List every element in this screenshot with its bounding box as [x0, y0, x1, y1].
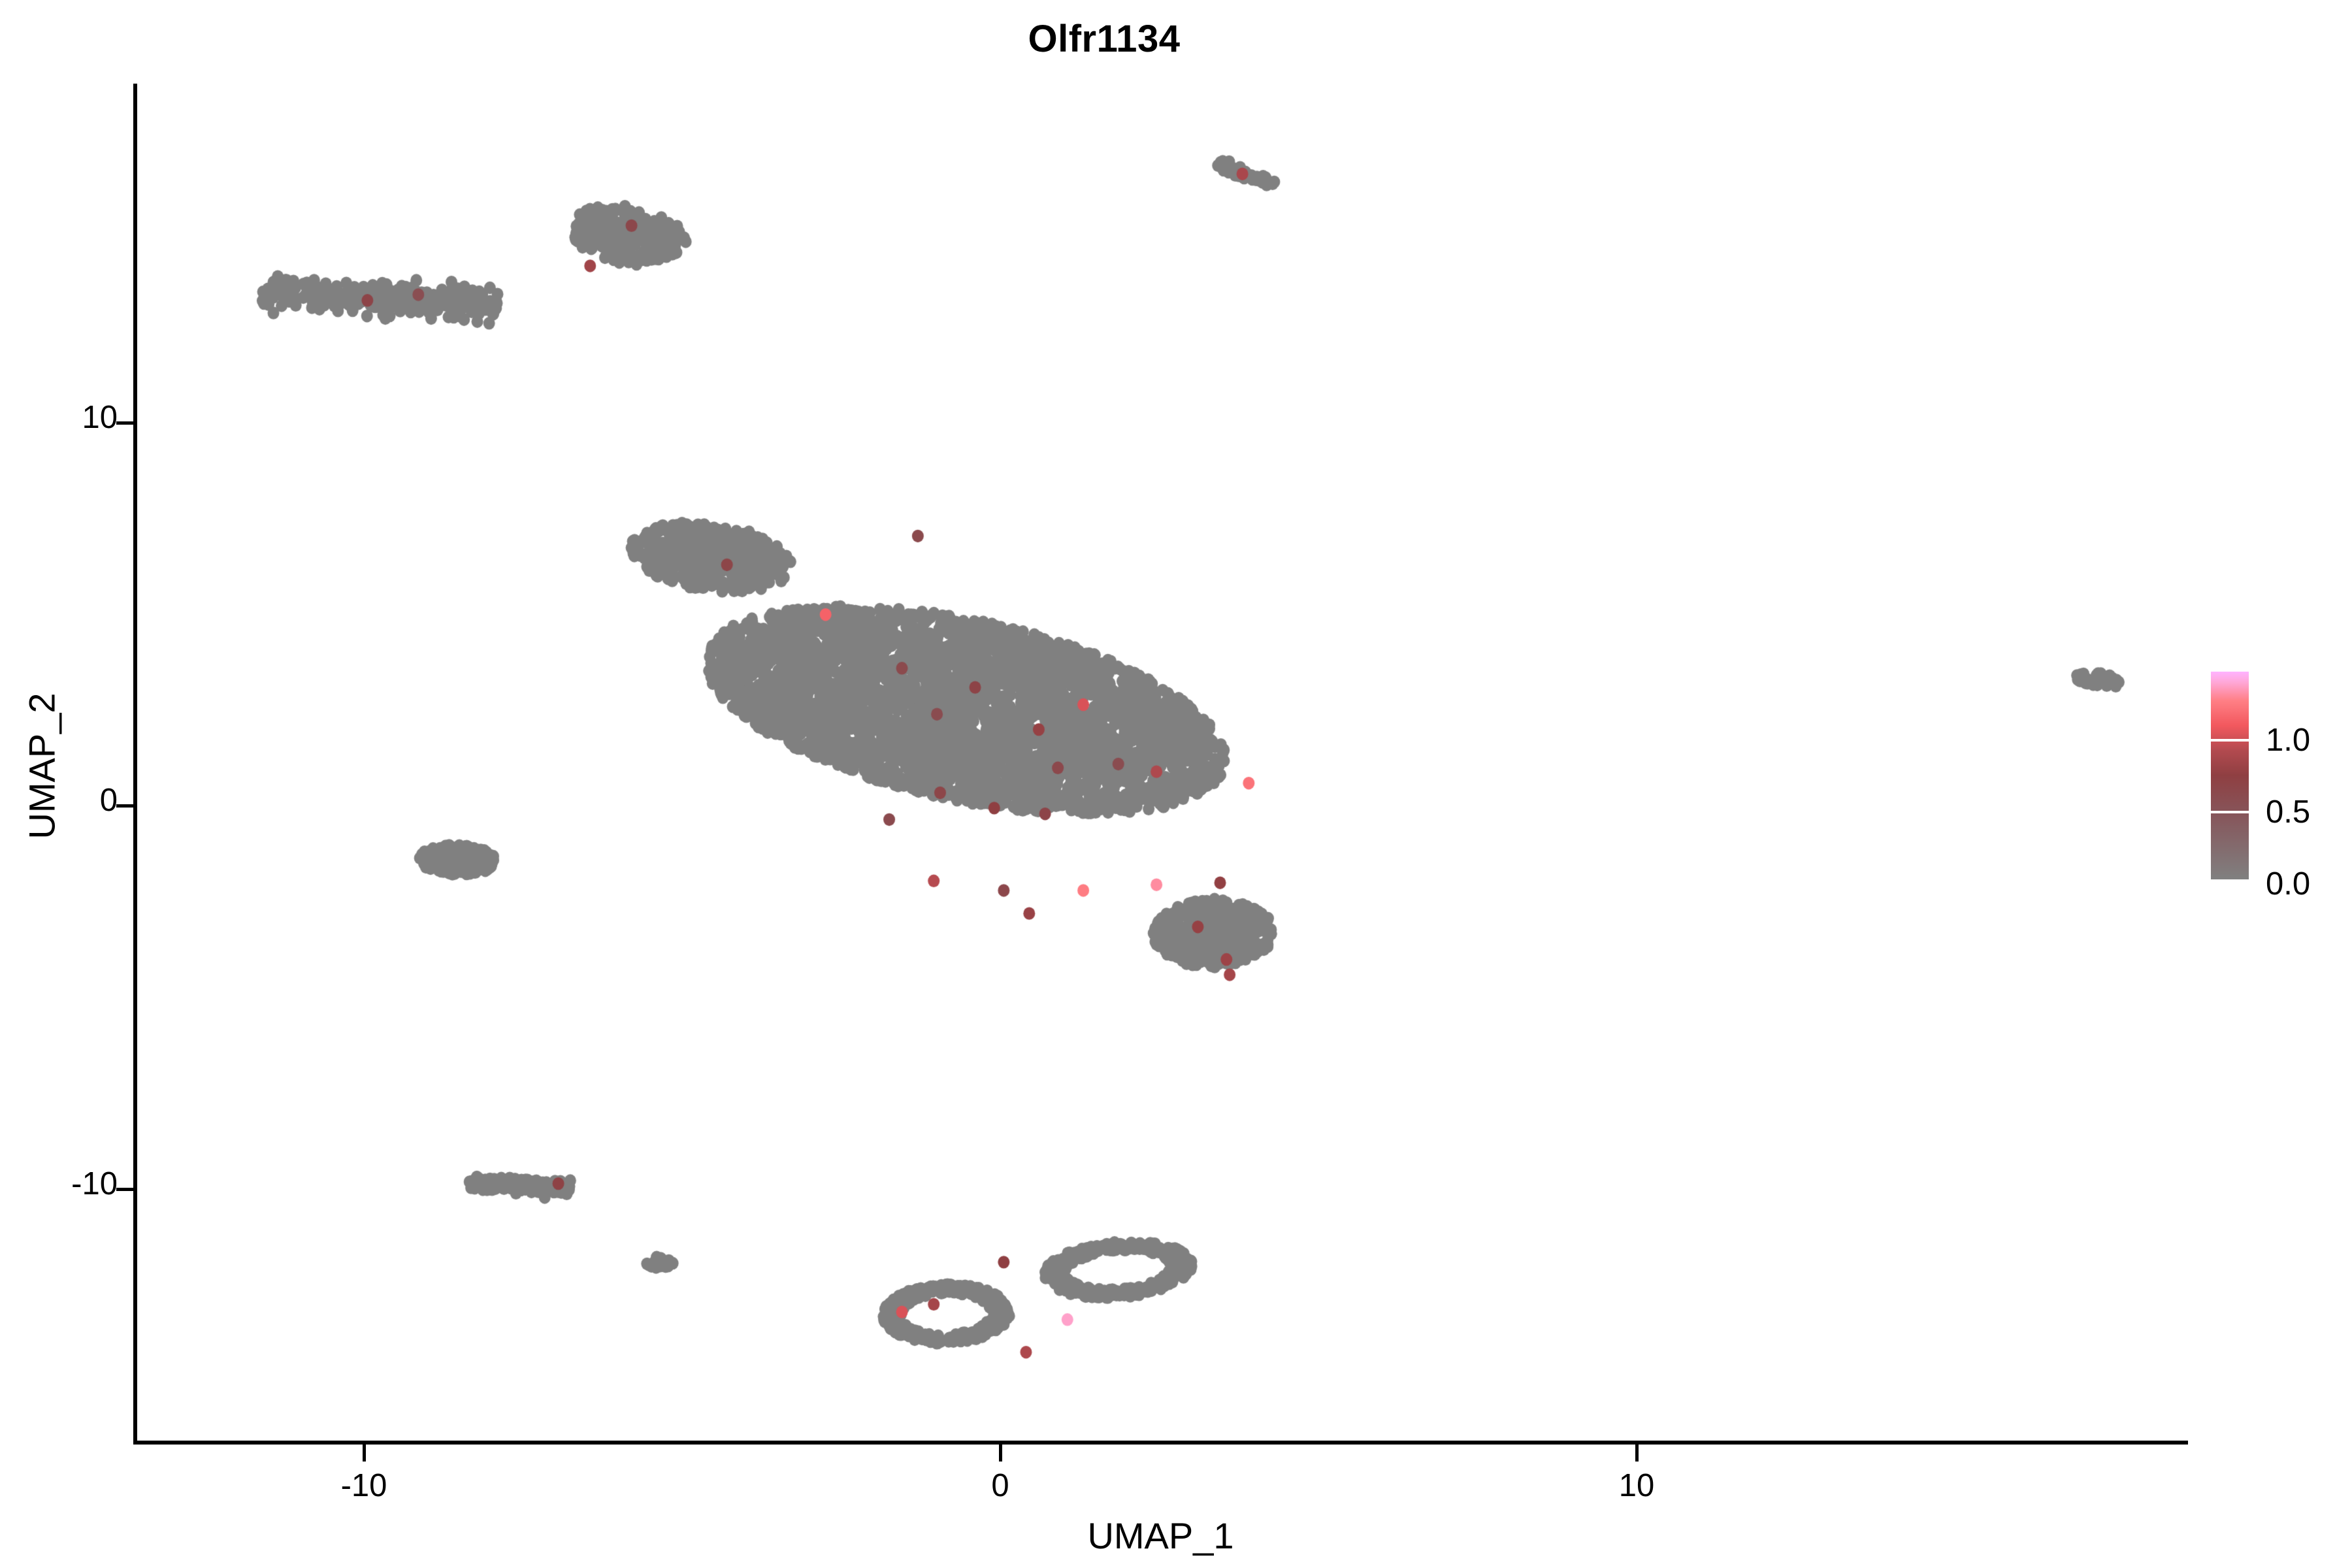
x-tick-label-0: 0	[991, 1467, 1009, 1504]
x-tick-label-10: 10	[1619, 1467, 1655, 1504]
colorbar-tick-0-5	[2211, 811, 2249, 813]
colorbar-label-0-0: 0.0	[2266, 866, 2310, 902]
colorbar-label-1-0: 1.0	[2266, 722, 2310, 759]
y-axis-title: UMAP_2	[21, 407, 63, 1126]
y-tick-label-10: 10	[82, 399, 118, 436]
colorbar-label-0-5: 0.5	[2266, 794, 2310, 830]
y-tick-mark-0	[116, 804, 133, 808]
y-tick-mark-neg10	[116, 1188, 133, 1191]
umap-feature-plot: Olfr1134 10 0 -10 -10 0 10 UMAP_1 UMAP_2…	[0, 0, 2352, 1568]
x-tick-mark-10	[1635, 1445, 1639, 1462]
colorbar-gradient	[2211, 672, 2249, 879]
x-axis-title: UMAP_1	[133, 1514, 2188, 1557]
y-tick-label-0: 0	[100, 782, 118, 819]
scatter-plot-canvas	[0, 0, 2352, 1568]
colorbar-legend: 1.0 0.5 0.0	[2211, 672, 2342, 881]
x-tick-label-neg10: -10	[341, 1467, 387, 1504]
x-axis-line	[133, 1441, 2188, 1445]
x-tick-mark-0	[999, 1445, 1002, 1462]
colorbar-tick-1	[2211, 739, 2249, 742]
y-tick-label-neg10: -10	[71, 1166, 118, 1202]
x-tick-mark-neg10	[363, 1445, 366, 1462]
y-axis-line	[133, 84, 137, 1445]
y-tick-mark-10	[116, 421, 133, 425]
